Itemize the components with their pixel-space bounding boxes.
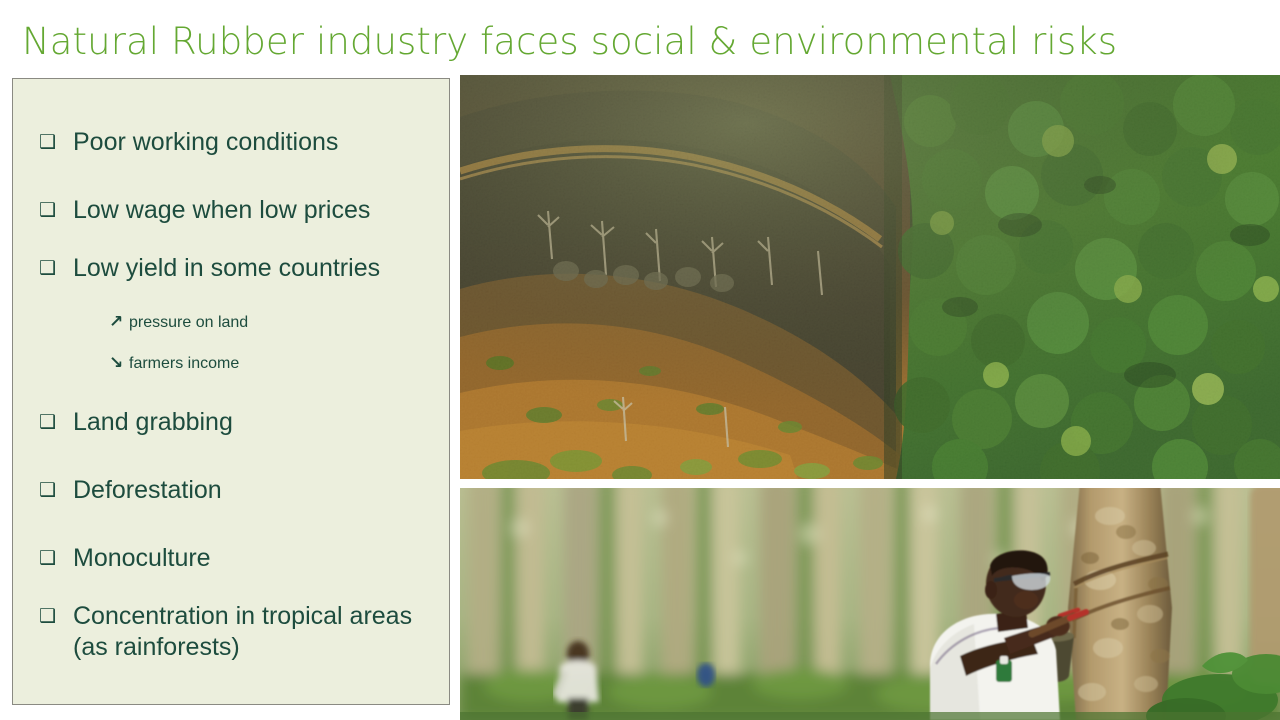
list-item: ❑ Deforestation — [39, 475, 439, 506]
list-item-label: Monoculture — [73, 543, 211, 574]
sub-list-item-label: farmers income — [129, 352, 239, 375]
tapping-illustration — [460, 488, 1280, 720]
square-bullet-icon: ❑ — [39, 407, 73, 437]
list-item-label: Concentration in tropical areas (as rain… — [73, 601, 439, 663]
list-item-label: Deforestation — [73, 475, 222, 506]
list-item-label: Low yield in some countries — [73, 253, 380, 284]
list-item-label: Poor working conditions — [73, 127, 338, 158]
aerial-deforestation-photo — [460, 75, 1280, 479]
page-title: Natural Rubber industry faces social & e… — [22, 18, 1222, 70]
square-bullet-icon: ❑ — [39, 601, 73, 631]
list-item-label: Land grabbing — [73, 407, 233, 438]
sub-list-item: ↗ pressure on land — [109, 311, 248, 334]
list-item: ❑ Concentration in tropical areas (as ra… — [39, 601, 439, 663]
square-bullet-icon: ❑ — [39, 253, 73, 283]
rubber-tapping-photo — [460, 488, 1280, 720]
list-item: ❑ Poor working conditions — [39, 127, 439, 158]
list-item: ❑ Low yield in some countries — [39, 253, 439, 284]
square-bullet-icon: ❑ — [39, 475, 73, 505]
list-item-label: Low wage when low prices — [73, 195, 370, 226]
risk-bullet-panel: ❑ Poor working conditions ❑ Low wage whe… — [12, 78, 450, 705]
square-bullet-icon: ❑ — [39, 543, 73, 573]
arrow-down-right-icon: ↘ — [109, 352, 129, 375]
sub-list-item-label: pressure on land — [129, 311, 248, 334]
deforestation-illustration — [460, 75, 1280, 479]
square-bullet-icon: ❑ — [39, 195, 73, 225]
sub-list-item: ↘ farmers income — [109, 352, 239, 375]
list-item: ❑ Land grabbing — [39, 407, 439, 438]
slide-canvas: Natural Rubber industry faces social & e… — [0, 0, 1280, 720]
list-item: ❑ Monoculture — [39, 543, 439, 574]
list-item: ❑ Low wage when low prices — [39, 195, 439, 226]
arrow-up-right-icon: ↗ — [109, 311, 129, 334]
square-bullet-icon: ❑ — [39, 127, 73, 157]
